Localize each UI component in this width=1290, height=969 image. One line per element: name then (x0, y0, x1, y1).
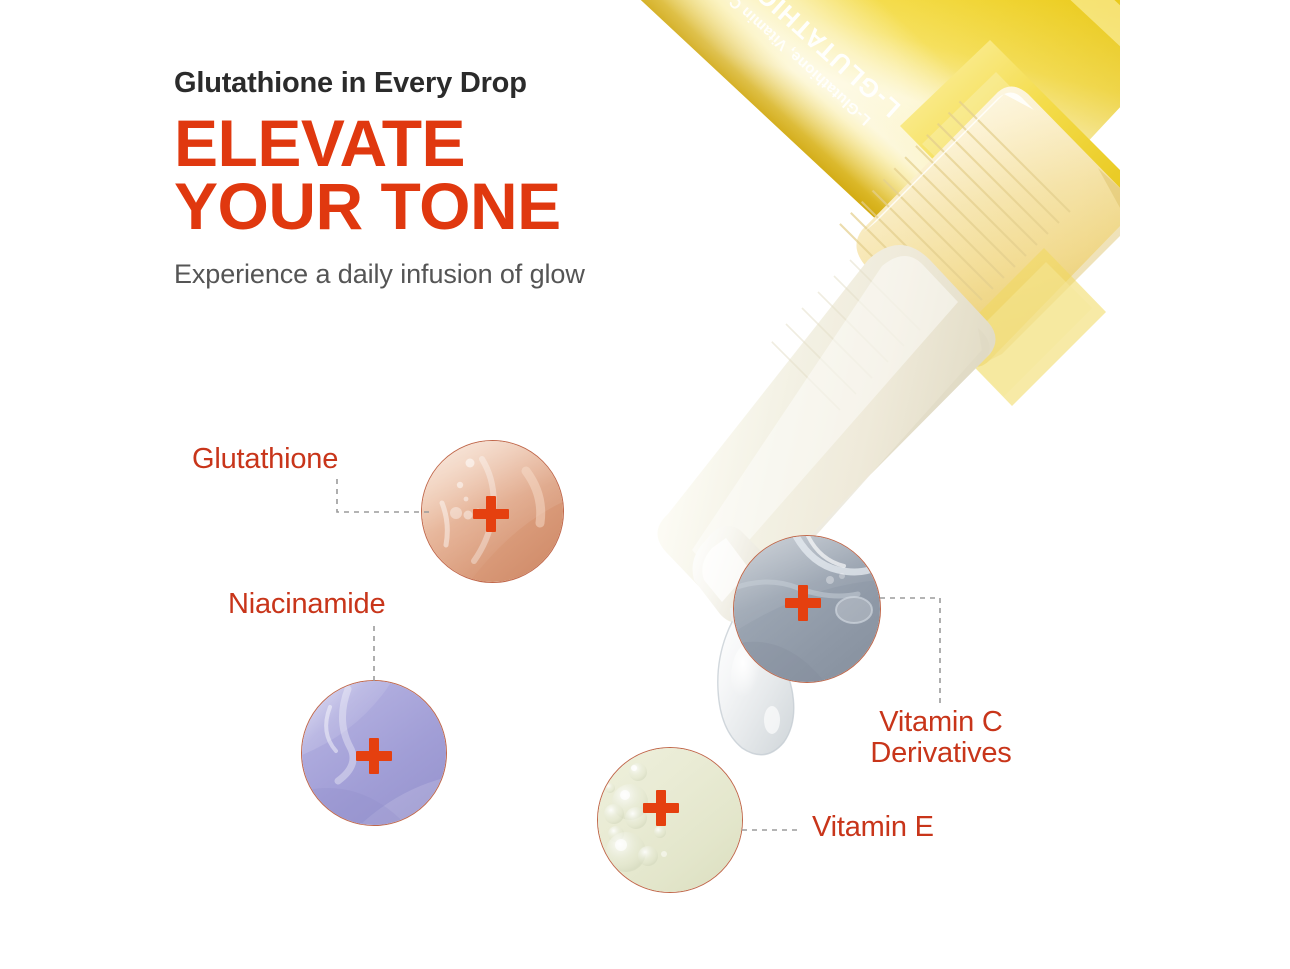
ingredient-label-niacinamide: Niacinamide (228, 589, 385, 620)
niacinamide-swatch (301, 680, 447, 826)
collar-ring (950, 248, 1106, 406)
ingredient-label-glutathione: Glutathione (192, 444, 338, 475)
headline-block: Glutathione in Every Drop ELEVATE YOUR T… (174, 68, 734, 290)
vitamin-c-label-line-1: Vitamin C (826, 707, 1056, 738)
ingredient-label-vitamin-c: Vitamin C Derivatives (826, 707, 1056, 770)
connector-glutathione (336, 478, 432, 524)
ingredient-label-vitamin-e: Vitamin E (812, 812, 934, 843)
vitamin-c-label-line-2: Derivatives (826, 738, 1056, 769)
vitamin-c-swatch (733, 535, 881, 683)
bottle-collar (790, 64, 1120, 367)
bottle-label-main: L-GLUTATHIONE (722, 0, 906, 122)
glutathione-swatch (421, 440, 564, 583)
eyebrow-text: Glutathione in Every Drop (174, 68, 734, 100)
product-marketing-banner: L-GLUTATHIONE VITAMIN BOOSTING L-Glutath… (0, 0, 1290, 969)
connector-vitamin-c (880, 596, 942, 708)
right-white-margin (1120, 0, 1290, 969)
hero-title-line-1: ELEVATE (174, 112, 734, 175)
page-title: ELEVATE YOUR TONE (174, 112, 734, 239)
subtitle-text: Experience a daily infusion of glow (174, 259, 734, 290)
bottle-shoulder (900, 40, 1120, 270)
vitamin-e-swatch (597, 747, 743, 893)
hero-title-line-2: YOUR TONE (174, 175, 734, 238)
artboard: L-GLUTATHIONE VITAMIN BOOSTING L-Glutath… (0, 0, 1120, 969)
connector-vitamin-e (742, 826, 798, 834)
connector-niacinamide (370, 626, 378, 684)
